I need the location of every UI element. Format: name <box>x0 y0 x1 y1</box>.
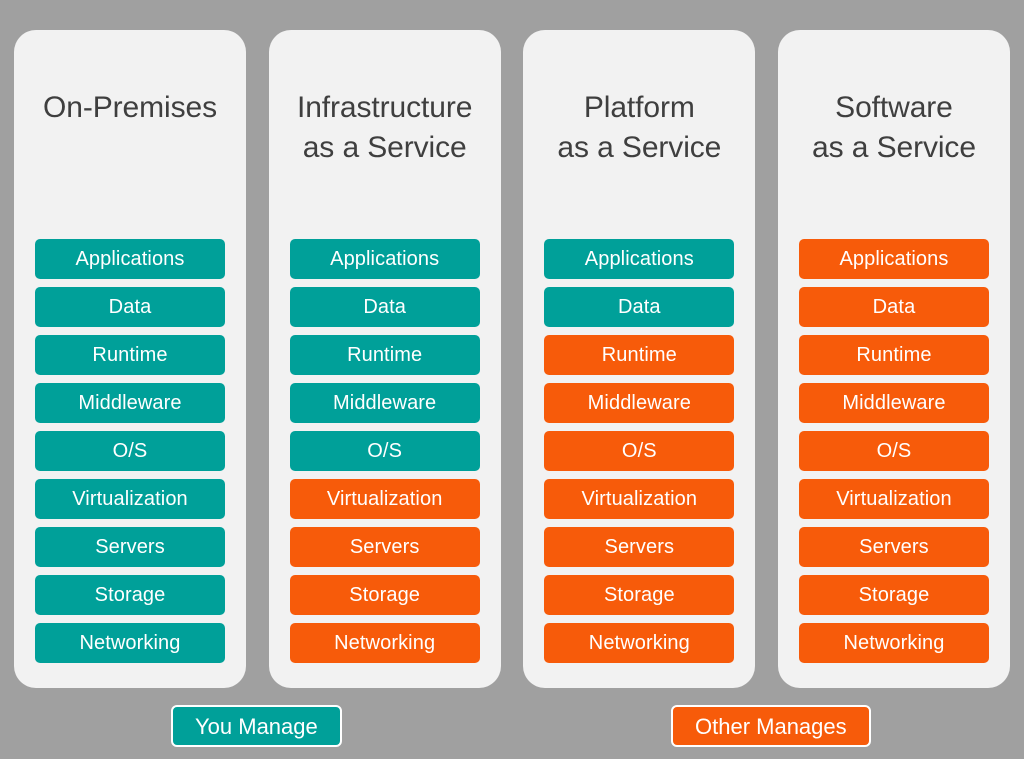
layer-bar[interactable]: Storage <box>544 575 734 615</box>
layer-bar[interactable]: Servers <box>544 527 734 567</box>
layer-bar[interactable]: Storage <box>35 575 225 615</box>
layer-bar[interactable]: O/S <box>35 431 225 471</box>
layer-bar[interactable]: Applications <box>290 239 480 279</box>
layer-bar[interactable]: Data <box>290 287 480 327</box>
card-title: Platform as a Service <box>534 88 744 168</box>
layer-bar[interactable]: Servers <box>799 527 989 567</box>
layer-bar[interactable]: Networking <box>799 623 989 663</box>
card-title: Software as a Service <box>789 88 999 168</box>
service-model-card: On-PremisesApplicationsDataRuntimeMiddle… <box>14 30 246 688</box>
layer-bar[interactable]: Applications <box>35 239 225 279</box>
layer-bar[interactable]: O/S <box>544 431 734 471</box>
layer-bar[interactable]: Runtime <box>799 335 989 375</box>
layer-bar[interactable]: Data <box>35 287 225 327</box>
service-model-card: Software as a ServiceApplicationsDataRun… <box>778 30 1010 688</box>
layer-bar[interactable]: Middleware <box>35 383 225 423</box>
layer-bar[interactable]: Virtualization <box>799 479 989 519</box>
layer-stack: ApplicationsDataRuntimeMiddlewareO/SVirt… <box>35 239 225 663</box>
layer-bar[interactable]: Middleware <box>290 383 480 423</box>
layer-bar[interactable]: Servers <box>35 527 225 567</box>
layer-bar[interactable]: Data <box>544 287 734 327</box>
service-model-columns: On-PremisesApplicationsDataRuntimeMiddle… <box>14 30 1010 688</box>
layer-bar[interactable]: Networking <box>35 623 225 663</box>
layer-bar[interactable]: Middleware <box>799 383 989 423</box>
service-model-card: Platform as a ServiceApplicationsDataRun… <box>523 30 755 688</box>
layer-bar[interactable]: Networking <box>290 623 480 663</box>
card-title: On-Premises <box>25 88 235 128</box>
layer-stack: ApplicationsDataRuntimeMiddlewareO/SVirt… <box>290 239 480 663</box>
layer-bar[interactable]: Servers <box>290 527 480 567</box>
layer-bar[interactable]: O/S <box>799 431 989 471</box>
layer-bar[interactable]: Virtualization <box>290 479 480 519</box>
layer-bar[interactable]: Runtime <box>35 335 225 375</box>
legend: You ManageOther Manages <box>0 705 1024 759</box>
legend-you-manage[interactable]: You Manage <box>171 705 342 747</box>
layer-bar[interactable]: Runtime <box>544 335 734 375</box>
layer-bar[interactable]: Middleware <box>544 383 734 423</box>
layer-bar[interactable]: Applications <box>544 239 734 279</box>
legend-other-manages[interactable]: Other Manages <box>671 705 871 747</box>
service-model-card: Infrastructure as a ServiceApplicationsD… <box>269 30 501 688</box>
layer-bar[interactable]: Storage <box>290 575 480 615</box>
cloud-service-model-diagram: On-PremisesApplicationsDataRuntimeMiddle… <box>0 0 1024 759</box>
layer-stack: ApplicationsDataRuntimeMiddlewareO/SVirt… <box>799 239 989 663</box>
layer-bar[interactable]: Applications <box>799 239 989 279</box>
layer-bar[interactable]: Networking <box>544 623 734 663</box>
layer-bar[interactable]: Runtime <box>290 335 480 375</box>
layer-bar[interactable]: O/S <box>290 431 480 471</box>
card-title: Infrastructure as a Service <box>280 88 490 168</box>
layer-bar[interactable]: Data <box>799 287 989 327</box>
layer-bar[interactable]: Storage <box>799 575 989 615</box>
layer-bar[interactable]: Virtualization <box>35 479 225 519</box>
layer-bar[interactable]: Virtualization <box>544 479 734 519</box>
layer-stack: ApplicationsDataRuntimeMiddlewareO/SVirt… <box>544 239 734 663</box>
